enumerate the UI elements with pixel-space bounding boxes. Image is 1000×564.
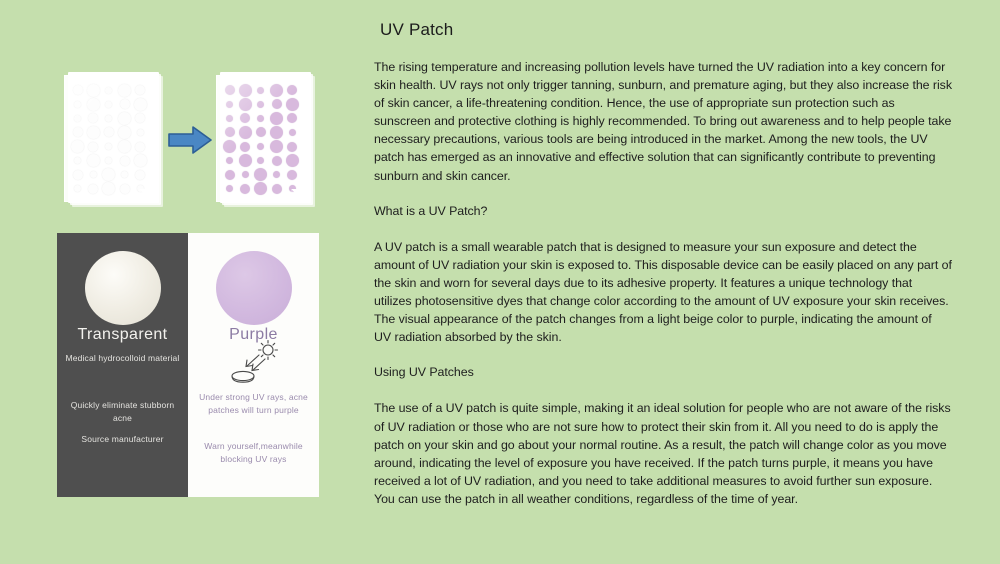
patch-dot xyxy=(137,129,144,136)
patch-dot xyxy=(118,140,131,153)
patch-dot xyxy=(120,99,130,109)
patch-dot xyxy=(135,113,145,123)
patch-dot xyxy=(254,182,267,195)
transparent-panel-title: Transparent xyxy=(57,326,188,344)
article-paragraph-intro: The rising temperature and increasing po… xyxy=(374,58,952,185)
sheet-corner-fold xyxy=(139,189,151,201)
patch-dot xyxy=(135,142,145,152)
patch-dot xyxy=(121,171,128,178)
patch-dot xyxy=(73,85,83,95)
patch-dot xyxy=(272,156,282,166)
patch-dot xyxy=(289,129,296,136)
patch-dot xyxy=(287,85,297,95)
patch-dot xyxy=(87,98,100,111)
patch-dot xyxy=(74,101,81,108)
patch-dot xyxy=(272,184,282,194)
untreated-patch-sheet xyxy=(64,72,159,205)
patch-dot xyxy=(135,85,145,95)
page-title: UV Patch xyxy=(380,20,952,40)
patch-dot xyxy=(134,154,147,167)
transparent-patch-circle xyxy=(85,251,161,325)
patch-dot xyxy=(273,171,280,178)
page-background: Transparent Medical hydrocolloid materia… xyxy=(0,0,1000,564)
patch-comparison-figure: Transparent Medical hydrocolloid materia… xyxy=(57,233,319,497)
transparent-feature-source: Source manufacturer xyxy=(63,433,182,446)
patch-dot xyxy=(286,98,299,111)
article-heading-using: Using UV Patches xyxy=(374,363,952,381)
patch-dot xyxy=(239,126,252,139)
patch-dot xyxy=(240,142,250,152)
patch-dot xyxy=(240,113,250,123)
patch-dot xyxy=(74,185,81,192)
patch-dot xyxy=(272,99,282,109)
patch-dot xyxy=(105,101,112,108)
patch-dot xyxy=(74,157,81,164)
patch-dot xyxy=(287,113,297,123)
purple-patch-panel: Purple xyxy=(188,233,319,497)
article-paragraph-definition: A UV patch is a small wearable patch tha… xyxy=(374,238,952,347)
patch-dot xyxy=(257,115,264,122)
patch-dot xyxy=(254,168,267,181)
patch-sheets-figure xyxy=(57,66,327,216)
patch-dot xyxy=(225,170,235,180)
patch-dot xyxy=(120,156,130,166)
patch-dot xyxy=(257,143,264,150)
patch-dot xyxy=(88,142,98,152)
patch-dot xyxy=(118,126,131,139)
patch-dot xyxy=(73,127,83,137)
patch-dot xyxy=(239,98,252,111)
transition-arrow-icon xyxy=(167,124,213,156)
patch-dot-grid-right xyxy=(222,83,300,196)
patch-dot xyxy=(239,84,252,97)
purple-patch-circle xyxy=(216,251,292,325)
patch-dot xyxy=(134,98,147,111)
patch-dot xyxy=(90,171,97,178)
patch-dot xyxy=(270,140,283,153)
patch-dot xyxy=(87,84,100,97)
patch-dot xyxy=(120,184,130,194)
patch-dot xyxy=(73,170,83,180)
left-image-column: Transparent Medical hydrocolloid materia… xyxy=(0,0,360,564)
patch-dot xyxy=(270,84,283,97)
sun-uv-rays-icon xyxy=(223,339,285,385)
patch-dot-grid-left xyxy=(70,83,148,196)
patch-dot xyxy=(118,84,131,97)
sheet-film xyxy=(216,75,304,202)
patch-dot xyxy=(102,182,115,195)
patch-dot xyxy=(105,157,112,164)
patch-dot xyxy=(102,168,115,181)
patch-dot xyxy=(105,115,112,122)
sheet-film xyxy=(64,75,152,202)
purple-feature-warn: Warn yourself,meanwhile blocking UV rays xyxy=(194,440,313,465)
patch-dot xyxy=(226,115,233,122)
patch-dot xyxy=(118,112,131,125)
patch-dot xyxy=(226,157,233,164)
patch-dot xyxy=(270,126,283,139)
patch-dot xyxy=(105,87,112,94)
patch-dot xyxy=(287,142,297,152)
patch-dot xyxy=(225,85,235,95)
patch-dot xyxy=(257,87,264,94)
patch-dot xyxy=(87,126,100,139)
patch-dot xyxy=(88,113,98,123)
purple-feature-uv-turn: Under strong UV rays, acne patches will … xyxy=(194,391,313,416)
patch-dot xyxy=(287,170,297,180)
patch-dot xyxy=(239,154,252,167)
patch-dot xyxy=(257,101,264,108)
patch-dot xyxy=(71,140,84,153)
transparent-patch-panel: Transparent Medical hydrocolloid materia… xyxy=(57,233,188,497)
patch-dot xyxy=(223,140,236,153)
patch-dot xyxy=(104,127,114,137)
patch-dot xyxy=(87,154,100,167)
patch-dot xyxy=(105,143,112,150)
patch-dot xyxy=(88,184,98,194)
transparent-feature-acne: Quickly eliminate stubborn acne xyxy=(63,399,182,424)
patch-dot xyxy=(242,171,249,178)
sheet-corner-fold xyxy=(291,189,303,201)
patch-dot xyxy=(135,170,145,180)
article-heading-what-is: What is a UV Patch? xyxy=(374,202,952,220)
transparent-feature-material: Medical hydrocolloid material xyxy=(63,352,182,365)
patch-dot xyxy=(225,127,235,137)
patch-dot xyxy=(74,115,81,122)
patch-dot xyxy=(270,112,283,125)
patch-dot xyxy=(286,154,299,167)
patch-dot xyxy=(226,101,233,108)
patch-dot xyxy=(240,184,250,194)
uv-exposed-patch-sheet xyxy=(216,72,311,205)
patch-dot xyxy=(256,127,266,137)
article-paragraph-usage: The use of a UV patch is quite simple, m… xyxy=(374,399,952,508)
article-content: UV Patch The rising temperature and incr… xyxy=(374,20,952,508)
patch-dot xyxy=(226,185,233,192)
patch-dot xyxy=(257,157,264,164)
